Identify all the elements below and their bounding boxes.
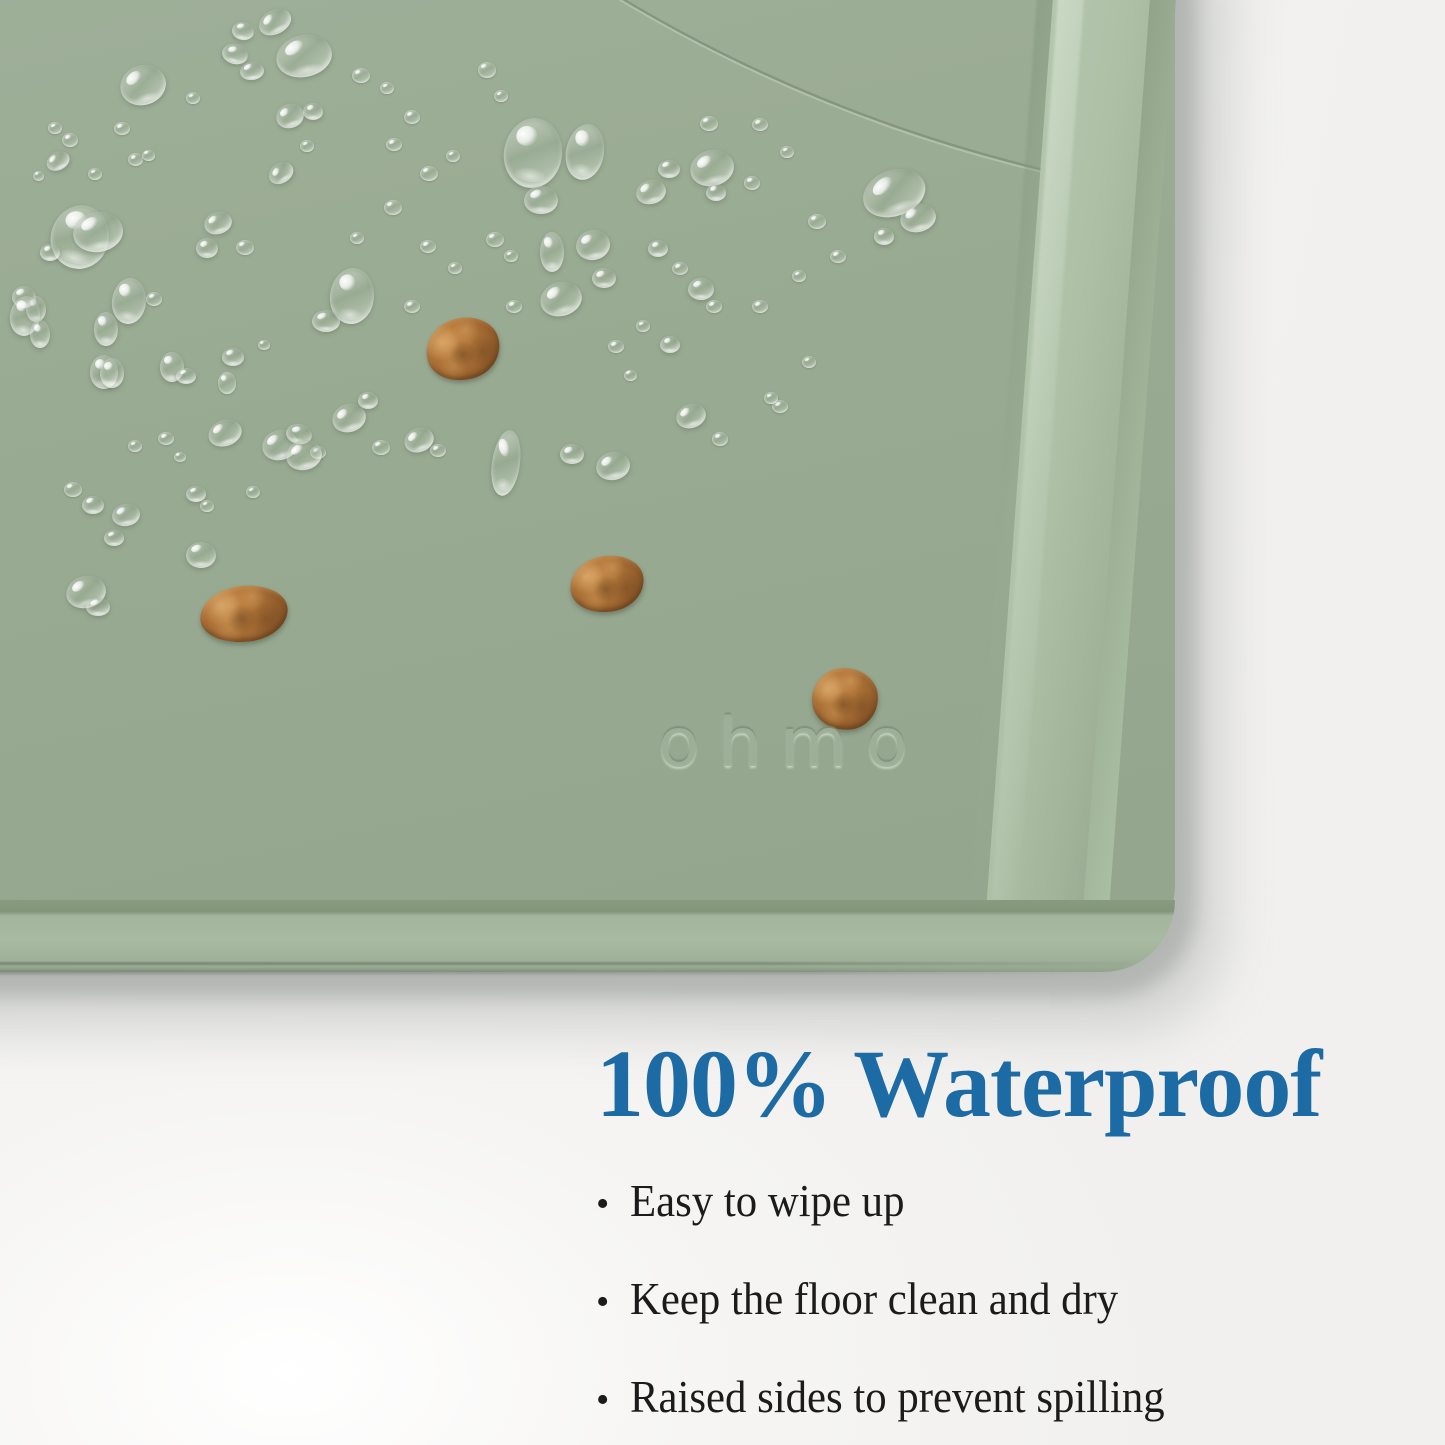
water-droplet	[688, 278, 714, 300]
water-droplet	[222, 348, 244, 366]
water-droplet	[300, 140, 314, 152]
marketing-text-panel: 100% Waterproof •Easy to wipe up•Keep th…	[596, 1036, 1396, 1445]
water-droplet	[110, 502, 141, 529]
water-droplet	[478, 62, 496, 78]
kibble-piece	[418, 308, 508, 390]
feature-bullet-label: Keep the floor clean and dry	[630, 1276, 1118, 1322]
water-droplet	[561, 121, 608, 183]
water-droplet	[624, 370, 637, 381]
water-droplet	[239, 60, 265, 81]
water-droplet	[372, 440, 390, 455]
water-droplet	[430, 444, 446, 457]
water-droplet	[560, 444, 584, 464]
water-droplet	[792, 270, 806, 282]
water-droplet	[272, 30, 336, 83]
water-droplet	[158, 432, 174, 445]
water-droplet	[94, 312, 118, 346]
water-droplet	[506, 300, 522, 313]
water-droplet	[700, 116, 718, 131]
water-droplet	[780, 146, 794, 158]
water-droplet	[254, 3, 295, 40]
feature-bullet-item: •Raised sides to prevent spilling	[596, 1374, 1396, 1420]
water-droplet	[312, 310, 340, 332]
water-droplet	[658, 160, 680, 178]
water-droplet	[808, 214, 826, 229]
water-droplet	[186, 92, 200, 104]
water-droplet	[174, 452, 186, 462]
water-droplet	[30, 320, 50, 348]
feature-bullet-list: •Easy to wipe up•Keep the floor clean an…	[596, 1178, 1396, 1420]
water-droplet	[504, 250, 518, 262]
water-droplet	[258, 340, 270, 350]
water-droplet	[499, 114, 566, 191]
water-droplet	[40, 244, 60, 261]
water-droplet	[186, 542, 216, 568]
mat-floor-contact-shadow	[0, 970, 1115, 974]
water-droplet	[524, 186, 558, 214]
water-droplet	[384, 200, 402, 215]
water-droplet	[672, 262, 688, 275]
water-droplet	[62, 133, 78, 147]
water-droplet	[752, 300, 768, 313]
headline-waterproof: 100% Waterproof	[596, 1036, 1396, 1132]
water-droplet	[592, 268, 616, 288]
water-droplet	[86, 598, 110, 616]
bullet-marker-icon: •	[596, 1185, 630, 1223]
water-droplet	[446, 150, 460, 162]
water-droplet	[573, 227, 612, 263]
feature-bullet-label: Easy to wipe up	[630, 1178, 904, 1224]
water-droplet	[386, 138, 402, 151]
feature-bullet-item: •Easy to wipe up	[596, 1178, 1396, 1224]
water-droplet	[48, 122, 62, 134]
water-droplet	[43, 147, 73, 174]
water-droplet	[744, 176, 760, 190]
water-droplet	[540, 232, 564, 272]
water-droplet	[380, 82, 394, 94]
water-droplet	[146, 292, 162, 306]
water-droplet	[448, 262, 462, 274]
water-droplet	[201, 208, 234, 238]
water-droplet	[88, 168, 102, 180]
kibble-piece	[565, 549, 649, 619]
water-droplet	[874, 228, 894, 245]
water-droplet	[104, 530, 124, 546]
water-droplet	[128, 440, 142, 452]
water-droplet	[673, 400, 709, 432]
kibble-piece	[197, 580, 292, 648]
water-droplet	[494, 90, 508, 102]
water-droplet	[536, 277, 586, 321]
water-droplet	[196, 238, 218, 258]
water-droplet	[358, 392, 378, 409]
water-droplet	[114, 122, 130, 135]
water-droplet	[82, 496, 104, 514]
water-droplet	[33, 171, 44, 181]
water-droplet	[142, 150, 155, 161]
product-feature-image: ohmo 100% Waterproof •Easy to wipe up•Ke…	[0, 0, 1445, 1445]
brand-logo-ohmo: ohmo	[658, 704, 927, 783]
mat-bottom-crease-line	[0, 962, 1130, 965]
water-droplet	[420, 240, 436, 253]
water-droplet	[636, 320, 650, 332]
water-droplet	[712, 432, 728, 446]
water-droplet	[186, 486, 206, 502]
water-droplet	[231, 20, 256, 42]
water-droplet	[706, 184, 726, 201]
water-droplet	[100, 358, 124, 388]
water-droplet	[176, 368, 196, 384]
water-droplet	[830, 250, 846, 263]
water-droplet	[648, 240, 668, 257]
water-droplet	[488, 428, 525, 497]
bullet-marker-icon: •	[596, 1381, 630, 1419]
water-droplet	[633, 176, 668, 207]
water-droplet	[352, 68, 370, 83]
water-droplet	[246, 486, 260, 498]
water-droplet	[205, 415, 246, 451]
water-droplet	[115, 59, 171, 111]
water-droplet	[706, 300, 722, 313]
water-droplet	[764, 392, 778, 404]
water-droplet	[303, 103, 323, 120]
water-droplet	[265, 157, 298, 188]
water-droplet	[608, 340, 624, 353]
water-droplet	[128, 153, 143, 166]
bullet-marker-icon: •	[596, 1283, 630, 1321]
water-droplet	[593, 449, 632, 483]
water-droplet	[350, 232, 364, 244]
water-droplet	[752, 118, 768, 131]
water-droplet	[200, 500, 214, 512]
water-droplet	[273, 100, 308, 132]
water-droplet	[218, 372, 236, 394]
water-droplet	[64, 482, 82, 497]
water-droplet	[236, 240, 254, 255]
water-droplet	[802, 356, 816, 368]
water-droplet	[420, 166, 438, 181]
feature-bullet-item: •Keep the floor clean and dry	[596, 1276, 1396, 1322]
water-droplet	[660, 336, 680, 353]
feature-bullet-label: Raised sides to prevent spilling	[630, 1374, 1165, 1420]
water-droplet	[404, 110, 420, 124]
water-droplet	[486, 232, 504, 247]
water-droplet	[404, 300, 420, 313]
